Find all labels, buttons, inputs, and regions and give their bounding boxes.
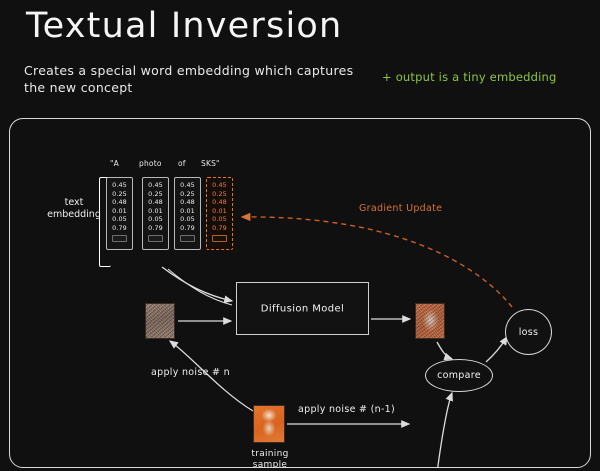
- noisy-latent-input-thumbnail: [145, 303, 175, 339]
- embedding-value: 0.79: [143, 224, 168, 233]
- embedding-value: 0.79: [107, 224, 132, 233]
- embedding-value: 0.45: [207, 181, 232, 190]
- diagram-frame: text embedding "A photo of SKS" 0.45 0.2…: [9, 118, 591, 468]
- embedding-value: 0.45: [107, 181, 132, 190]
- embedding-value: 0.05: [175, 215, 200, 224]
- diffusion-model-box[interactable]: Diffusion Model: [236, 282, 369, 335]
- embedding-value: 0.48: [143, 198, 168, 207]
- column-header-photo: photo: [139, 159, 162, 168]
- apply-noise-n1-label: apply noise # (n-1): [298, 404, 395, 415]
- embedding-value: 0.05: [143, 215, 168, 224]
- diffusion-model-label: Diffusion Model: [237, 303, 368, 314]
- text-embedding-label: text embedding: [44, 197, 104, 221]
- predicted-noisy-image-thumbnail: [415, 303, 445, 339]
- embedding-value: 0.01: [107, 207, 132, 216]
- slide-root: Textual Inversion Creates a special word…: [0, 0, 600, 471]
- embedding-value: 0.48: [175, 198, 200, 207]
- embedding-value: 0.25: [207, 190, 232, 199]
- page-title: Textual Inversion: [26, 6, 342, 46]
- embedding-value: 0.48: [107, 198, 132, 207]
- embedding-ellipsis: [212, 235, 227, 242]
- embedding-value: 0.79: [175, 224, 200, 233]
- embedding-value: 0.48: [207, 198, 232, 207]
- embedding-value: 0.01: [143, 207, 168, 216]
- embedding-ellipsis: [148, 235, 163, 242]
- embedding-value: 0.45: [143, 181, 168, 190]
- embedding-ellipsis: [180, 235, 195, 242]
- training-sample-thumbnail: [253, 405, 285, 443]
- column-header-sks: SKS": [201, 159, 220, 168]
- embedding-value: 0.45: [175, 181, 200, 190]
- training-sample-label: training sample: [246, 449, 294, 468]
- embedding-column-photo[interactable]: 0.45 0.25 0.48 0.01 0.05 0.79: [142, 177, 169, 250]
- output-note: + output is a tiny embedding: [382, 70, 597, 84]
- compare-label: compare: [437, 370, 481, 381]
- embedding-value: 0.05: [207, 215, 232, 224]
- embedding-column-a[interactable]: 0.45 0.25 0.48 0.01 0.05 0.79: [106, 177, 133, 250]
- page-subtitle: Creates a special word embedding which c…: [24, 62, 369, 96]
- embedding-value: 0.01: [207, 207, 232, 216]
- embedding-value: 0.05: [107, 215, 132, 224]
- embedding-value: 0.25: [143, 190, 168, 199]
- embedding-value: 0.79: [207, 224, 232, 233]
- embedding-ellipsis: [112, 235, 127, 242]
- embedding-column-sks[interactable]: 0.45 0.25 0.48 0.01 0.05 0.79: [206, 177, 233, 250]
- embedding-value: 0.01: [175, 207, 200, 216]
- loss-label: loss: [519, 327, 539, 338]
- apply-noise-n-label: apply noise # n: [151, 367, 230, 378]
- diagram-stage: text embedding "A photo of SKS" 0.45 0.2…: [10, 119, 590, 467]
- loss-node[interactable]: loss: [505, 309, 552, 355]
- embedding-value: 0.25: [175, 190, 200, 199]
- column-header-of: of: [178, 159, 186, 168]
- embedding-value: 0.25: [107, 190, 132, 199]
- column-header-a: "A: [110, 159, 119, 168]
- compare-node[interactable]: compare: [425, 359, 493, 392]
- gradient-update-label: Gradient Update: [359, 203, 442, 214]
- embedding-column-of[interactable]: 0.45 0.25 0.48 0.01 0.05 0.79: [174, 177, 201, 250]
